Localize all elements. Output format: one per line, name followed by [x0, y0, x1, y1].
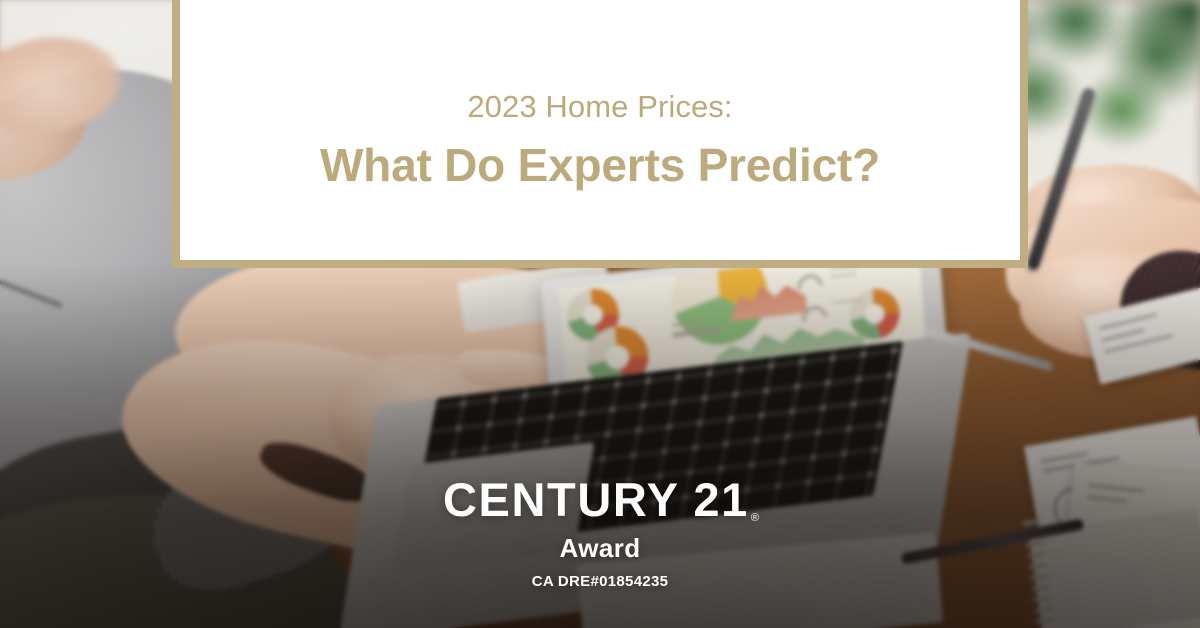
social-card-canvas: 2023 Home Prices: What Do Experts Predic…	[0, 0, 1200, 628]
brand-name-text: CENTURY 21	[443, 473, 749, 526]
brand-office-name: Award	[560, 533, 641, 564]
brand-block: CENTURY 21® Award CA DRE#01854235	[0, 476, 1200, 590]
registered-trademark-icon: ®	[751, 512, 759, 524]
title-card: 2023 Home Prices: What Do Experts Predic…	[172, 0, 1028, 268]
brand-logo-wordmark: CENTURY 21®	[443, 476, 757, 523]
card-headline: What Do Experts Predict?	[320, 140, 880, 191]
card-kicker: 2023 Home Prices:	[467, 90, 732, 124]
brand-license-number: CA DRE#01854235	[532, 573, 669, 590]
